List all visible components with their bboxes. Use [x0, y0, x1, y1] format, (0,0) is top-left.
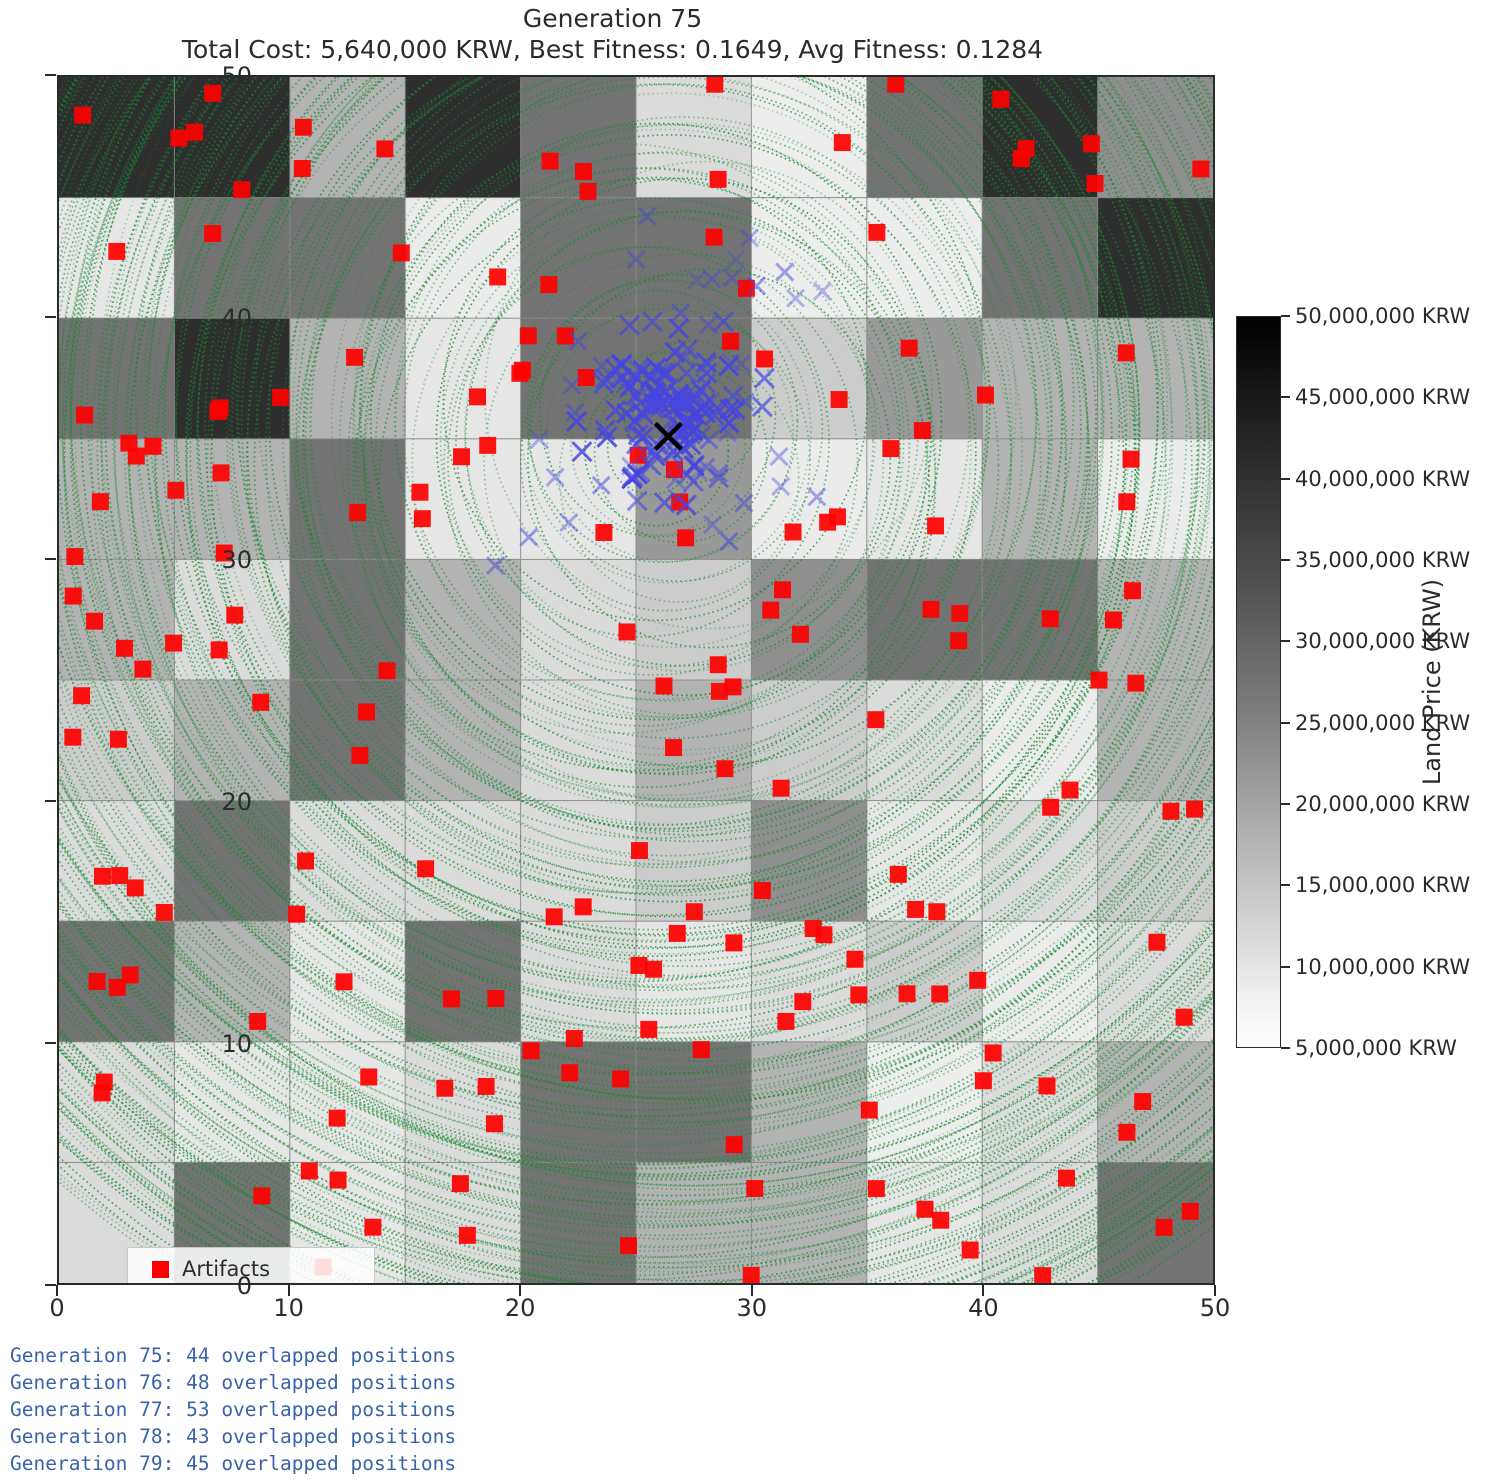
- y-axis-tick-mark: [45, 74, 56, 76]
- x-axis-tick-mark: [56, 1285, 58, 1296]
- y-axis-tick-mark: [45, 800, 56, 802]
- chart-title-block: Generation 75 Total Cost: 5,640,000 KRW,…: [0, 4, 1225, 66]
- colorbar-tick-mark: [1281, 966, 1290, 968]
- y-axis-tick-label: 10: [192, 1030, 252, 1058]
- x-axis-tick-mark: [1214, 1285, 1216, 1296]
- x-axis-tick-mark: [519, 1285, 521, 1296]
- legend-item-artifacts: Artifacts: [138, 1254, 366, 1284]
- colorbar-tick-mark: [1281, 884, 1290, 886]
- y-axis-tick-label: 40: [192, 304, 252, 332]
- y-axis-tick-label: 50: [192, 62, 252, 90]
- colorbar-tick-label: 5,000,000 KRW: [1295, 1036, 1457, 1060]
- colorbar-tick-label: 20,000,000 KRW: [1295, 792, 1470, 816]
- console-line: Generation 78: 43 overlapped positions: [10, 1423, 710, 1450]
- x-axis-tick-mark: [288, 1285, 290, 1296]
- colorbar-tick-mark: [1281, 640, 1290, 642]
- y-axis-tick-label: 0: [192, 1272, 252, 1300]
- y-axis-tick-label: 30: [192, 546, 252, 574]
- colorbar-tick-mark: [1281, 315, 1290, 317]
- x-axis-tick-label: 40: [948, 1294, 1018, 1322]
- artifact-square-icon: [138, 1261, 182, 1278]
- scatter-overlay: [59, 77, 1213, 1283]
- x-axis-tick-label: 50: [1180, 1294, 1250, 1322]
- x-axis-tick-label: 0: [22, 1294, 92, 1322]
- colorbar-tick-mark: [1281, 478, 1290, 480]
- chart-subtitle: Total Cost: 5,640,000 KRW, Best Fitness:…: [0, 34, 1225, 66]
- x-axis-tick-mark: [751, 1285, 753, 1296]
- colorbar-tick-mark: [1281, 559, 1290, 561]
- legend-item-candidates: Candidates: [138, 1284, 366, 1285]
- y-axis-tick-mark: [45, 1284, 56, 1286]
- console-line: Generation 77: 53 overlapped positions: [10, 1396, 710, 1423]
- colorbar-gradient[interactable]: [1236, 316, 1281, 1048]
- colorbar-tick-mark: [1281, 803, 1290, 805]
- x-axis-tick-label: 20: [485, 1294, 555, 1322]
- console-line: Generation 75: 44 overlapped positions: [10, 1342, 710, 1369]
- colorbar-tick-mark: [1281, 1047, 1290, 1049]
- colorbar-tick-label: 10,000,000 KRW: [1295, 955, 1470, 979]
- colorbar-tick-label: 35,000,000 KRW: [1295, 548, 1470, 572]
- colorbar-tick-label: 45,000,000 KRW: [1295, 385, 1470, 409]
- y-axis-tick-label: 20: [192, 788, 252, 816]
- colorbar-tick-label: 15,000,000 KRW: [1295, 873, 1470, 897]
- console-line: Generation 79: 45 overlapped positions: [10, 1450, 710, 1477]
- colorbar-tick-label: 50,000,000 KRW: [1295, 304, 1470, 328]
- colorbar-tick-mark: [1281, 722, 1290, 724]
- colorbar-tick-label: 40,000,000 KRW: [1295, 467, 1470, 491]
- x-axis-tick-label: 30: [717, 1294, 787, 1322]
- figure-canvas: Generation 75 Total Cost: 5,640,000 KRW,…: [0, 0, 1490, 1481]
- console-output: Generation 75: 44 overlapped positionsGe…: [10, 1342, 710, 1477]
- plot-area[interactable]: Artifacts Candidates Best Candidate: [57, 75, 1215, 1285]
- console-line: Generation 76: 48 overlapped positions: [10, 1369, 710, 1396]
- y-axis-tick-mark: [45, 316, 56, 318]
- y-axis-tick-mark: [45, 1042, 56, 1044]
- colorbar-label: Land Price (KRW): [1418, 579, 1446, 785]
- chart-title: Generation 75: [0, 4, 1225, 34]
- x-axis-tick-label: 10: [254, 1294, 324, 1322]
- y-axis-tick-mark: [45, 558, 56, 560]
- colorbar-tick-mark: [1281, 396, 1290, 398]
- x-axis-tick-mark: [982, 1285, 984, 1296]
